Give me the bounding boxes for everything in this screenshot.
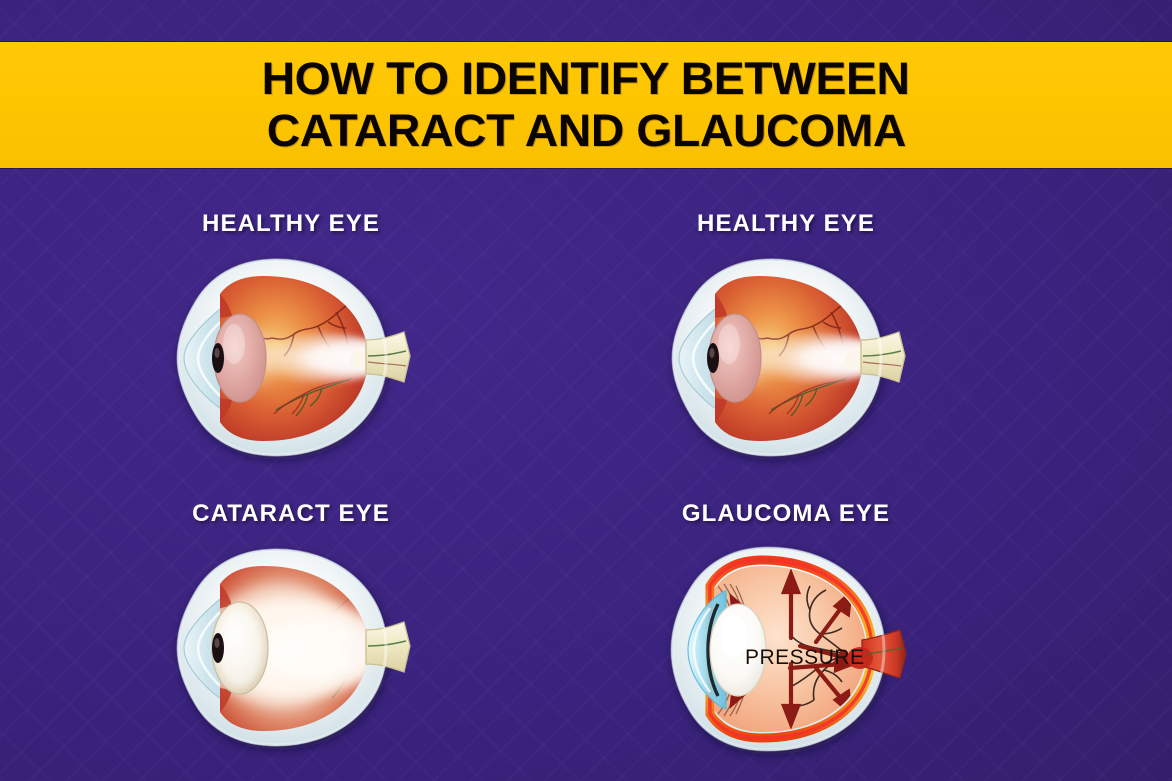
title-line-2: CATARACT AND GLAUCOMA (266, 105, 905, 157)
figure-glaucoma-eye: PRESSURE (650, 542, 912, 756)
lens-highlight (721, 614, 747, 658)
label-healthy-eye-left: HEALTHY EYE (202, 210, 380, 238)
optic-nerve (861, 332, 905, 382)
pupil (707, 343, 719, 373)
figure-healthy-eye-left (160, 252, 412, 464)
cataract-haze-right (258, 620, 382, 680)
title-line-1: HOW TO IDENTIFY BETWEEN (262, 53, 910, 105)
infographic-canvas: HOW TO IDENTIFY BETWEEN CATARACT AND GLA… (0, 0, 1172, 781)
pupil-highlight (214, 348, 219, 358)
pupil-highlight (214, 638, 219, 648)
figure-healthy-eye-right (655, 252, 907, 464)
pupil (212, 343, 224, 373)
label-cataract-eye: CATARACT EYE (192, 500, 390, 528)
lens-highlight (718, 324, 740, 364)
figure-cataract-eye (160, 542, 412, 754)
lens-highlight (223, 324, 245, 364)
label-glaucoma-eye: GLAUCOMA EYE (682, 500, 890, 528)
cataract-lens-cloud (218, 610, 262, 686)
pupil-highlight (709, 348, 714, 358)
optic-nerve (366, 332, 410, 382)
title-banner: HOW TO IDENTIFY BETWEEN CATARACT AND GLA… (0, 42, 1172, 168)
label-healthy-eye-right: HEALTHY EYE (697, 210, 875, 238)
optic-nerve (366, 622, 410, 672)
pupil (212, 633, 224, 663)
pressure-label: PRESSURE (745, 646, 865, 669)
